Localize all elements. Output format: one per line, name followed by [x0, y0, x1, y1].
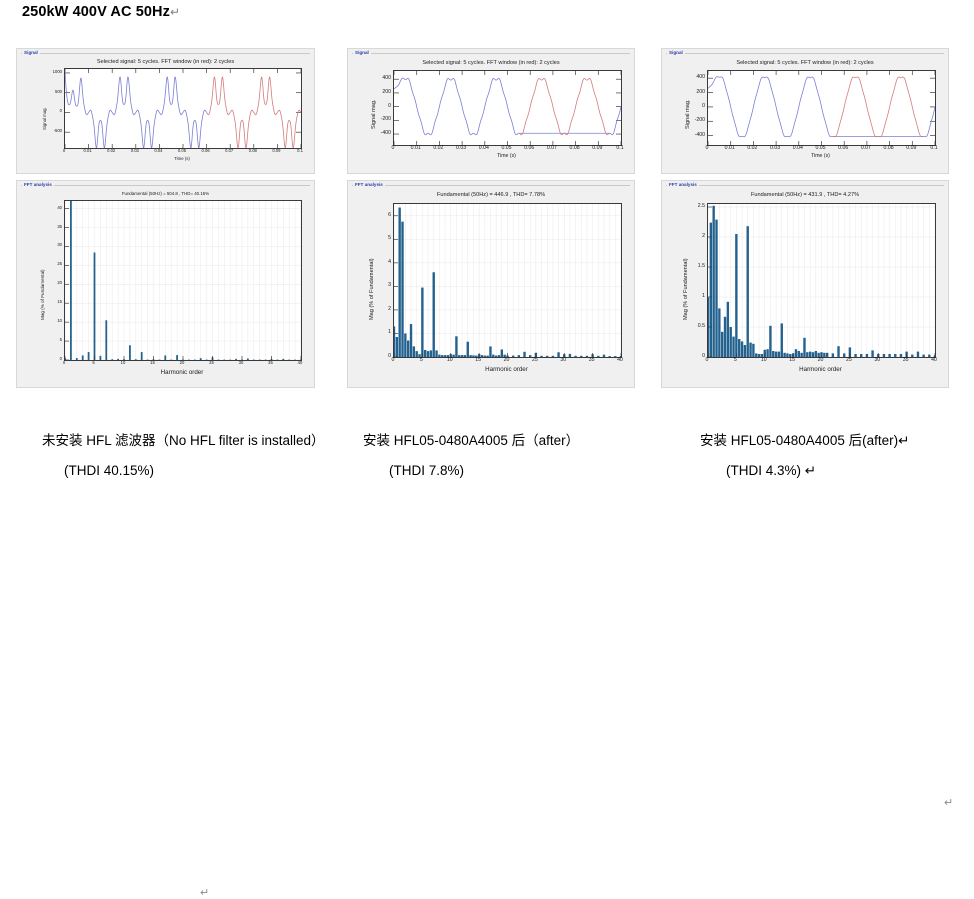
signal-ylabel-2: Signal mag.	[685, 99, 691, 129]
axis-tick-label: 20	[504, 357, 510, 363]
axis-tick-label: 0	[63, 148, 65, 153]
caption-line2: (THDI 4.3%) ↵	[700, 456, 974, 486]
axis-tick-label: 0	[60, 108, 62, 113]
axis-tick-label: 0	[392, 145, 395, 151]
axis-tick-label: 40	[298, 360, 303, 365]
axis-tick-label: 0.05	[178, 148, 186, 153]
axis-tick-label: 40	[617, 357, 623, 363]
axis-tick-label: 0.1	[297, 148, 303, 153]
signal-xlabel-0: Time (s)	[64, 156, 300, 161]
axis-tick-label: 0.03	[131, 148, 139, 153]
caption-hfl-778: 安装 HFL05-0480A4005 后（after） (THDI 7.8%)	[363, 426, 683, 486]
axis-tick-label: 15	[789, 357, 795, 363]
fft-panel-1: FFT analysis Fundamental (50Hz) = 446.9 …	[347, 180, 635, 388]
axis-tick-label: -400	[695, 132, 705, 138]
axis-tick-label: 25	[57, 261, 62, 266]
axis-tick-label: 0.04	[479, 145, 489, 151]
axis-tick-label: 0.04	[793, 145, 803, 151]
axis-tick-label: 1.5	[698, 263, 705, 269]
axis-tick-label: 0.01	[84, 148, 92, 153]
axis-tick-label: 0.01	[411, 145, 421, 151]
fft-ylabel-1: Mag (% of Fundamental)	[369, 258, 375, 320]
axis-tick-label: 0.06	[524, 145, 534, 151]
axis-tick-label: 15	[57, 299, 62, 304]
axis-tick-label: 0.03	[770, 145, 780, 151]
axis-tick-label: 0.06	[202, 148, 210, 153]
figure-column-no-filter: Signal Selected signal: 5 cycles. FFT wi…	[16, 48, 315, 388]
signal-plot-area-1	[393, 70, 622, 146]
axis-tick-label: 0.09	[592, 145, 602, 151]
caption-line1: 安装 HFL05-0480A4005 后（after）	[363, 426, 683, 456]
axis-tick-label: -400	[381, 130, 391, 136]
axis-tick-label: 1	[388, 329, 391, 335]
caption-row: 未安装 HFL 滤波器（No HFL filter is installed） …	[0, 396, 974, 504]
axis-tick-label: 0.08	[249, 148, 257, 153]
axis-tick-label: 25	[846, 357, 852, 363]
axis-tick-label: 40	[57, 205, 62, 210]
signal-plot-area-0	[64, 68, 302, 149]
page-title: 250kW 400V AC 50Hz↵	[22, 4, 180, 20]
axis-tick-label: 0.07	[225, 148, 233, 153]
signal-panel-0: Signal Selected signal: 5 cycles. FFT wi…	[16, 48, 315, 174]
axis-tick-label: 10	[121, 360, 126, 365]
axis-tick-label: 0	[60, 356, 62, 361]
axis-tick-label: 0	[706, 357, 709, 363]
axis-tick-label: 6	[388, 212, 391, 218]
axis-tick-label: 40	[931, 357, 937, 363]
axis-tick-label: 5	[420, 357, 423, 363]
signal-panel-legend-2: Signal	[667, 50, 685, 56]
signal-chart-title-1: Selected signal: 5 cycles. FFT window (i…	[348, 60, 634, 66]
fft-xlabel-0: Harmonic order	[64, 369, 300, 376]
axis-tick-label: 0.09	[906, 145, 916, 151]
axis-tick-label: 25	[209, 360, 214, 365]
axis-tick-label: 0	[706, 145, 709, 151]
axis-tick-label: 0.06	[838, 145, 848, 151]
fft-xlabel-2: Harmonic order	[707, 366, 934, 373]
axis-tick-label: 400	[696, 74, 705, 80]
axis-tick-label: 1000	[53, 69, 62, 74]
axis-tick-label: 500	[55, 89, 62, 94]
axis-tick-label: -200	[381, 116, 391, 122]
axis-tick-label: 15	[150, 360, 155, 365]
signal-plot-area-2	[707, 70, 936, 146]
fft-plot-area-2	[707, 203, 936, 358]
paragraph-mark-icon: ↵	[170, 5, 180, 19]
caption-no-filter: 未安装 HFL 滤波器（No HFL filter is installed） …	[42, 426, 362, 486]
axis-tick-label: 0.1	[616, 145, 623, 151]
axis-tick-label: 10	[761, 357, 767, 363]
fft-panel-legend-2: FFT analysis	[667, 182, 699, 188]
caption-line1: 安装 HFL05-0480A4005 后(after)↵	[700, 426, 974, 456]
fft-xlabel-1: Harmonic order	[393, 366, 620, 373]
axis-tick-label: 4	[388, 259, 391, 265]
axis-tick-label: 5	[734, 357, 737, 363]
fft-plot-area-0	[64, 200, 302, 361]
axis-tick-label: -500	[54, 128, 62, 133]
axis-tick-label: 5	[60, 337, 62, 342]
axis-tick-label: 20	[180, 360, 185, 365]
axis-tick-label: 0.09	[272, 148, 280, 153]
fft-chart-title-2: Fundamental (50Hz) = 431.9 , THD= 4.27%	[662, 192, 948, 198]
signal-panel-legend-0: Signal	[22, 50, 40, 56]
signal-xlabel-2: Time (s)	[707, 153, 934, 159]
fft-chart-title-0: Fundamental (50Hz) = 504.8 , THD= 40.15%	[17, 191, 314, 196]
axis-tick-label: -200	[695, 117, 705, 123]
axis-tick-label: 0	[63, 360, 65, 365]
axis-tick-label: 5	[388, 235, 391, 241]
axis-tick-label: 2	[388, 306, 391, 312]
axis-tick-label: 0.02	[433, 145, 443, 151]
axis-tick-label: 0.08	[884, 145, 894, 151]
caption-line2: (THDI 7.8%)	[363, 456, 683, 486]
axis-tick-label: 30	[874, 357, 880, 363]
axis-tick-label: 0.08	[570, 145, 580, 151]
figure-row: Signal Selected signal: 5 cycles. FFT wi…	[0, 48, 974, 388]
signal-ylabel-1: Signal mag.	[371, 99, 377, 129]
axis-tick-label: 10	[57, 318, 62, 323]
axis-tick-label: 20	[57, 280, 62, 285]
axis-tick-label: 30	[57, 242, 62, 247]
axis-tick-label: 35	[57, 224, 62, 229]
axis-tick-label: 35	[903, 357, 909, 363]
caption-line1: 未安装 HFL 滤波器（No HFL filter is installed）	[42, 426, 362, 456]
axis-tick-label: 3	[388, 282, 391, 288]
axis-tick-label: 0.05	[501, 145, 511, 151]
fft-panel-0: FFT analysis Fundamental (50Hz) = 504.8 …	[16, 180, 315, 388]
axis-tick-label: 400	[382, 75, 391, 81]
axis-tick-label: 0.5	[698, 323, 705, 329]
axis-tick-label: 0.1	[930, 145, 937, 151]
axis-tick-label: 2.5	[698, 203, 705, 209]
caption-line2: (THDI 40.15%)	[42, 456, 362, 486]
axis-tick-label: 0.05	[815, 145, 825, 151]
axis-tick-label: 10	[447, 357, 453, 363]
axis-tick-label: 25	[532, 357, 538, 363]
fft-panel-legend-1: FFT analysis	[353, 182, 385, 188]
axis-tick-label: 0.02	[107, 148, 115, 153]
paragraph-mark-icon: ↵	[200, 886, 209, 899]
caption-hfl-427: 安装 HFL05-0480A4005 后(after)↵ (THDI 4.3%)…	[700, 426, 974, 486]
signal-chart-title-0: Selected signal: 5 cycles. FFT window (i…	[17, 59, 314, 65]
figure-column-hfl-778: Signal Selected signal: 5 cycles. FFT wi…	[347, 48, 646, 388]
fft-panel-legend-0: FFT analysis	[22, 182, 54, 188]
signal-panel-legend-1: Signal	[353, 50, 371, 56]
fft-ylabel-2: Mag (% of Fundamental)	[683, 258, 689, 320]
axis-tick-label: 0	[388, 103, 391, 109]
fft-plot-area-1	[393, 203, 622, 358]
axis-tick-label: 35	[268, 360, 273, 365]
axis-tick-label: 0.07	[861, 145, 871, 151]
fft-ylabel-0: Mag (% of Fundamental)	[40, 269, 45, 320]
axis-tick-label: 30	[239, 360, 244, 365]
signal-xlabel-1: Time (s)	[393, 153, 620, 159]
axis-tick-label: 200	[382, 89, 391, 95]
axis-tick-label: 20	[818, 357, 824, 363]
axis-tick-label: 0.01	[725, 145, 735, 151]
signal-panel-1: Signal Selected signal: 5 cycles. FFT wi…	[347, 48, 635, 174]
signal-ylabel-0: Signal mag.	[42, 107, 47, 130]
axis-tick-label: 0	[702, 103, 705, 109]
axis-tick-label: 0.03	[456, 145, 466, 151]
axis-tick-label: 0	[392, 357, 395, 363]
axis-tick-label: 0.04	[154, 148, 162, 153]
figure-column-hfl-427: Signal Selected signal: 5 cycles. FFT wi…	[661, 48, 960, 388]
fft-chart-title-1: Fundamental (50Hz) = 446.9 , THD= 7.78%	[348, 192, 634, 198]
axis-tick-label: 200	[696, 89, 705, 95]
axis-tick-label: 30	[560, 357, 566, 363]
axis-tick-label: 2	[702, 233, 705, 239]
axis-tick-label: 15	[475, 357, 481, 363]
axis-tick-label: 0.07	[547, 145, 557, 151]
signal-panel-2: Signal Selected signal: 5 cycles. FFT wi…	[661, 48, 949, 174]
fft-panel-2: FFT analysis Fundamental (50Hz) = 431.9 …	[661, 180, 949, 388]
axis-tick-label: 5	[92, 360, 94, 365]
axis-tick-label: 0.02	[747, 145, 757, 151]
paragraph-mark-icon: ↵	[944, 796, 953, 809]
signal-chart-title-2: Selected signal: 5 cycles. FFT window (i…	[662, 60, 948, 66]
axis-tick-label: 35	[589, 357, 595, 363]
axis-tick-label: 1	[702, 293, 705, 299]
page-title-text: 250kW 400V AC 50Hz	[22, 4, 170, 20]
